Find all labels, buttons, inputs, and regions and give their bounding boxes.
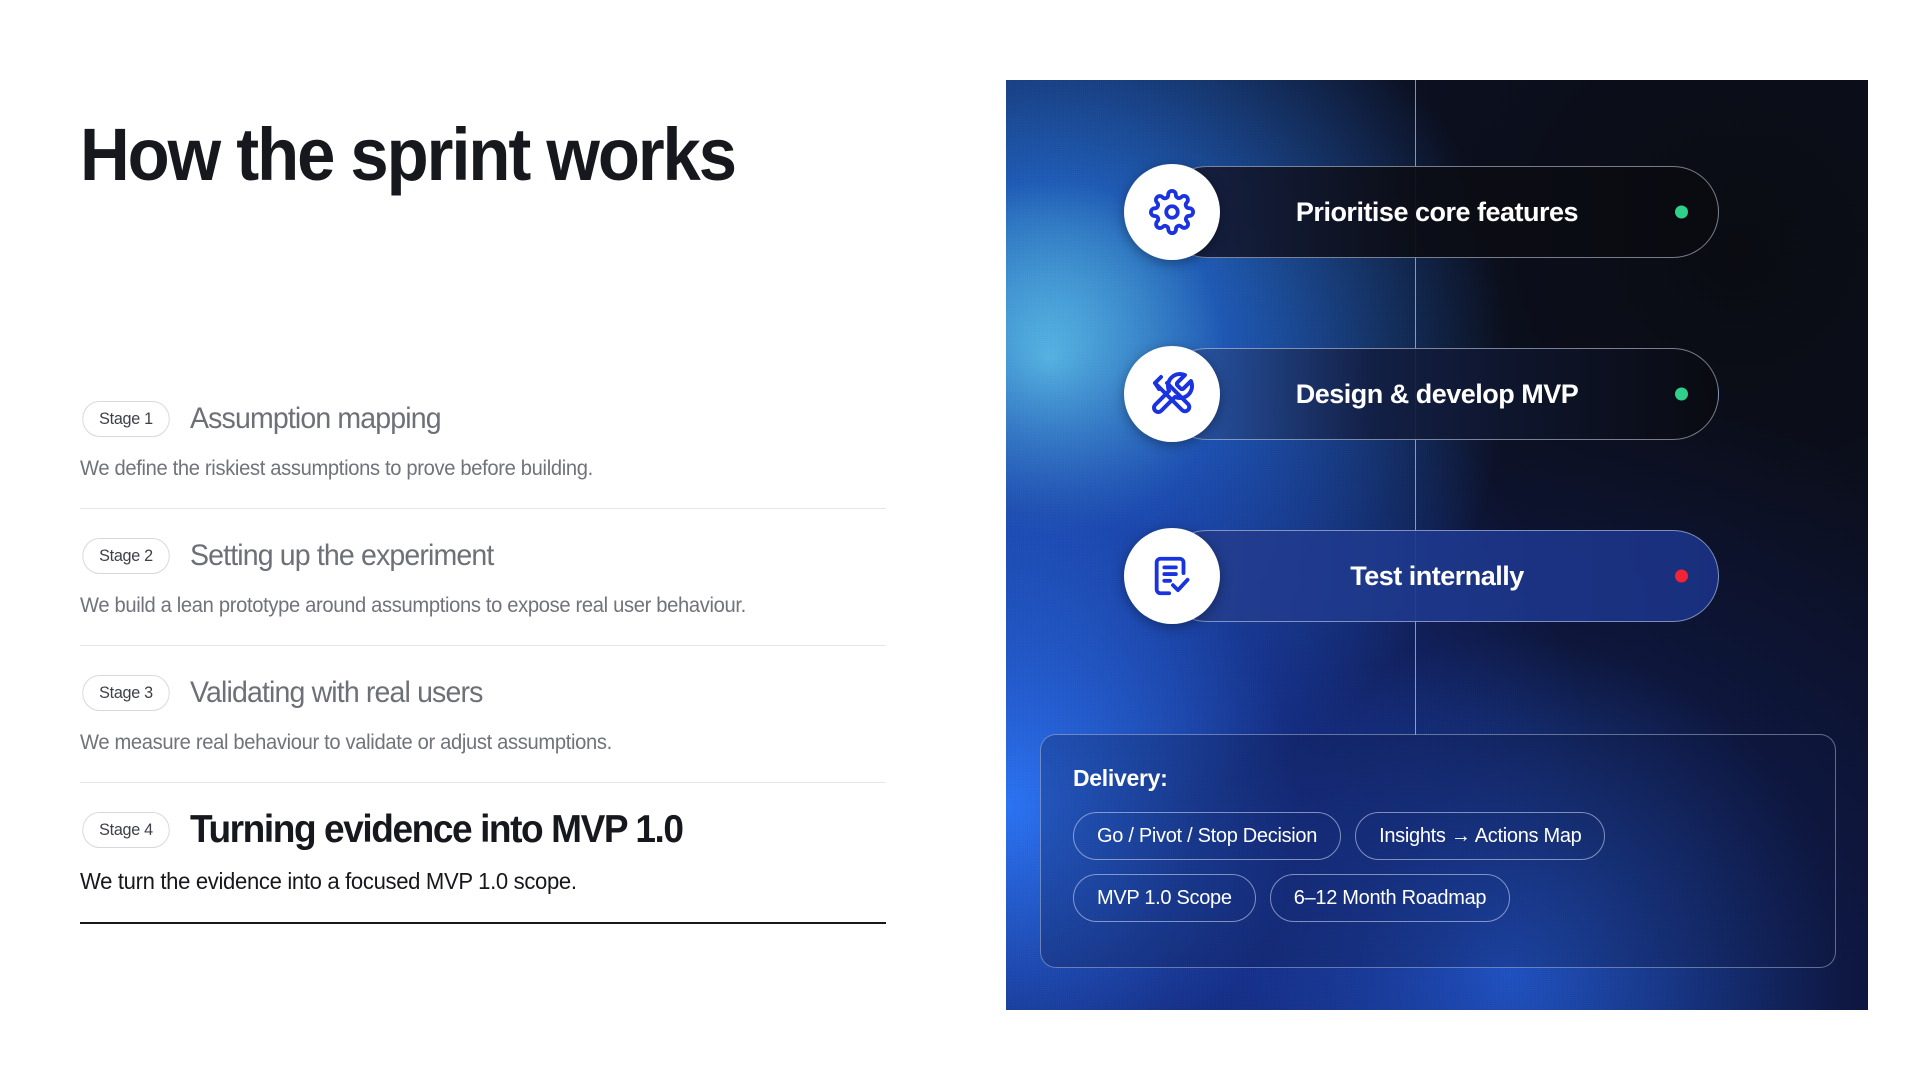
stage-title: Turning evidence into MVP 1.0 <box>190 808 683 852</box>
delivery-box: Delivery: Go / Pivot / Stop Decision Ins… <box>1040 734 1836 968</box>
gear-icon <box>1124 164 1220 260</box>
delivery-title: Delivery: <box>1073 765 1803 792</box>
left-column: How the sprint works Stage 1 Assumption … <box>0 0 1000 1080</box>
delivery-chip[interactable]: Go / Pivot / Stop Decision <box>1073 812 1341 860</box>
pipeline-card-test-internally[interactable]: Test internally <box>1161 530 1719 622</box>
stage-row-2[interactable]: Stage 2 Setting up the experiment We bui… <box>80 509 886 646</box>
stage-description: We define the riskiest assumptions to pr… <box>80 457 854 481</box>
stage-title: Assumption mapping <box>190 402 441 436</box>
stage-row-4[interactable]: Stage 4 Turning evidence into MVP 1.0 We… <box>80 783 886 924</box>
delivery-chip[interactable]: Insights → Actions Map <box>1355 812 1605 860</box>
delivery-chip[interactable]: MVP 1.0 Scope <box>1073 874 1256 922</box>
stage-badge: Stage 4 <box>82 812 169 848</box>
stage-header: Stage 2 Setting up the experiment <box>80 535 886 577</box>
stage-badge: Stage 3 <box>82 675 169 711</box>
stage-row-3[interactable]: Stage 3 Validating with real users We me… <box>80 646 886 783</box>
pipeline-card-label: Test internally <box>1162 561 1718 592</box>
delivery-chip-row-2: MVP 1.0 Scope 6–12 Month Roadmap <box>1073 874 1803 922</box>
document-check-icon <box>1124 528 1220 624</box>
wrench-screwdriver-icon <box>1124 346 1220 442</box>
page-title: How the sprint works <box>80 118 735 192</box>
pipeline-card-prioritise[interactable]: Prioritise core features <box>1161 166 1719 258</box>
stage-title: Setting up the experiment <box>190 539 493 573</box>
stage-description: We turn the evidence into a focused MVP … <box>80 868 854 895</box>
pipeline-card-label: Prioritise core features <box>1162 197 1718 228</box>
stage-header: Stage 4 Turning evidence into MVP 1.0 <box>80 809 886 851</box>
stage-badge: Stage 1 <box>82 401 169 437</box>
stage-list: Stage 1 Assumption mapping We define the… <box>80 398 886 924</box>
status-dot-green <box>1675 206 1688 219</box>
status-dot-red <box>1675 570 1688 583</box>
sprint-visual-panel: Prioritise core features Design & develo… <box>1006 80 1868 1010</box>
pipeline-card-label: Design & develop MVP <box>1162 379 1718 410</box>
stage-description: We measure real behaviour to validate or… <box>80 731 854 755</box>
delivery-chip-row-1: Go / Pivot / Stop Decision Insights → Ac… <box>1073 812 1803 860</box>
status-dot-green <box>1675 388 1688 401</box>
stage-title: Validating with real users <box>190 676 482 710</box>
stage-header: Stage 1 Assumption mapping <box>80 398 886 440</box>
stage-description: We build a lean prototype around assumpt… <box>80 594 854 618</box>
delivery-chip[interactable]: 6–12 Month Roadmap <box>1270 874 1511 922</box>
pipeline-card-design-develop[interactable]: Design & develop MVP <box>1161 348 1719 440</box>
stage-row-1[interactable]: Stage 1 Assumption mapping We define the… <box>80 398 886 509</box>
stage-badge: Stage 2 <box>82 538 169 574</box>
stage-header: Stage 3 Validating with real users <box>80 672 886 714</box>
